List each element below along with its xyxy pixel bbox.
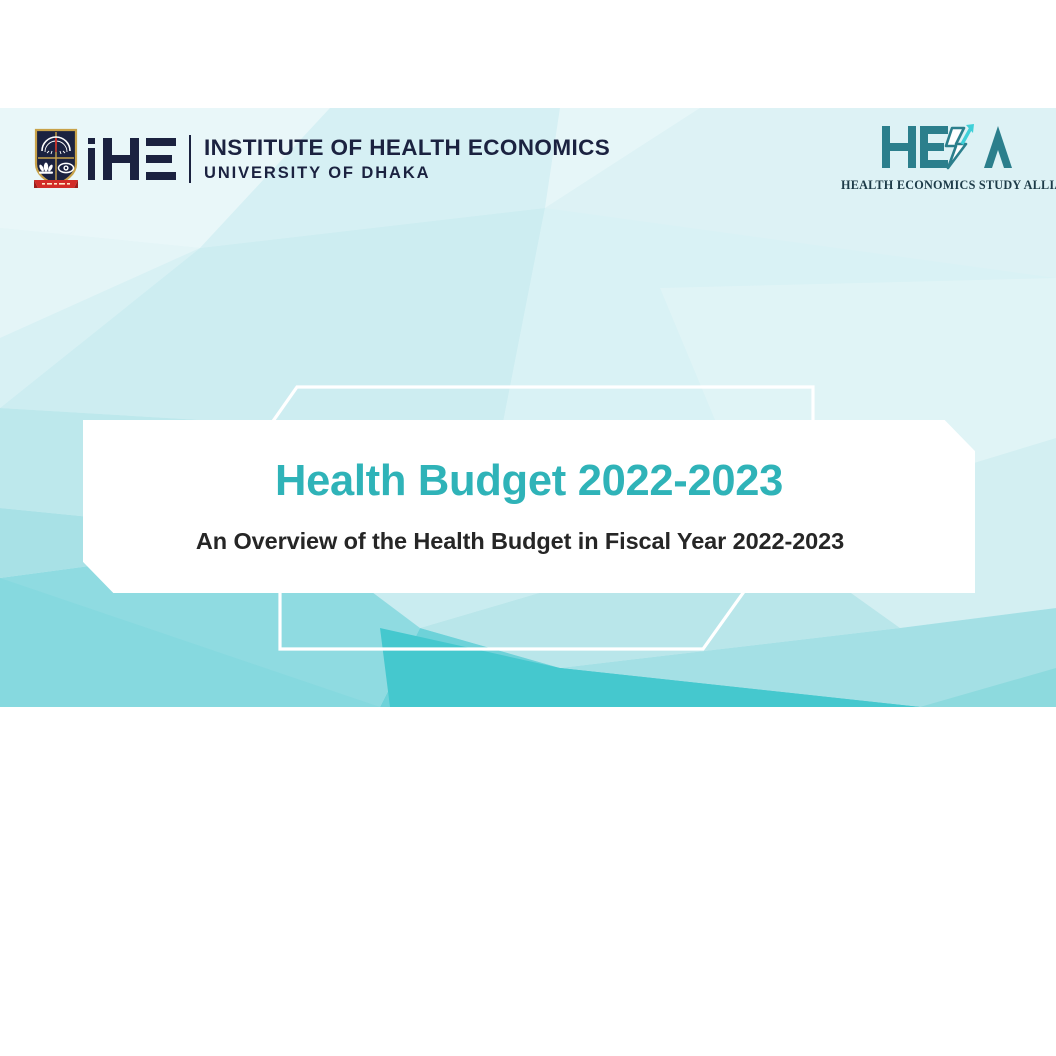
slide-title: Health Budget 2022-2023 bbox=[275, 458, 783, 506]
slide-subtitle: An Overview of the Health Budget in Fisc… bbox=[196, 528, 844, 555]
ihe-university-name: UNIVERSITY OF DHAKA bbox=[204, 165, 610, 182]
hesa-tagline: HEALTH ECONOMICS STUDY ALLIANCE bbox=[841, 178, 1051, 193]
ihe-institute-name: INSTITUTE OF HEALTH ECONOMICS bbox=[204, 137, 610, 160]
ihe-wordmark: INSTITUTE OF HEALTH ECONOMICS UNIVERSITY… bbox=[204, 137, 610, 181]
presentation-slide: INSTITUTE OF HEALTH ECONOMICS UNIVERSITY… bbox=[0, 108, 1056, 707]
hesa-logo: HEALTH ECONOMICS STUDY ALLIANCE bbox=[841, 122, 1051, 193]
dhaka-university-crest-icon bbox=[33, 128, 79, 190]
hesa-monogram-icon bbox=[880, 122, 1012, 174]
ihe-logo: INSTITUTE OF HEALTH ECONOMICS UNIVERSITY… bbox=[33, 128, 610, 190]
ihe-logo-divider bbox=[189, 135, 191, 183]
title-text-container: Health Budget 2022-2023 An Overview of t… bbox=[83, 420, 975, 593]
ihe-monogram-icon bbox=[86, 134, 178, 184]
slide-logo-row: INSTITUTE OF HEALTH ECONOMICS UNIVERSITY… bbox=[0, 108, 1056, 216]
